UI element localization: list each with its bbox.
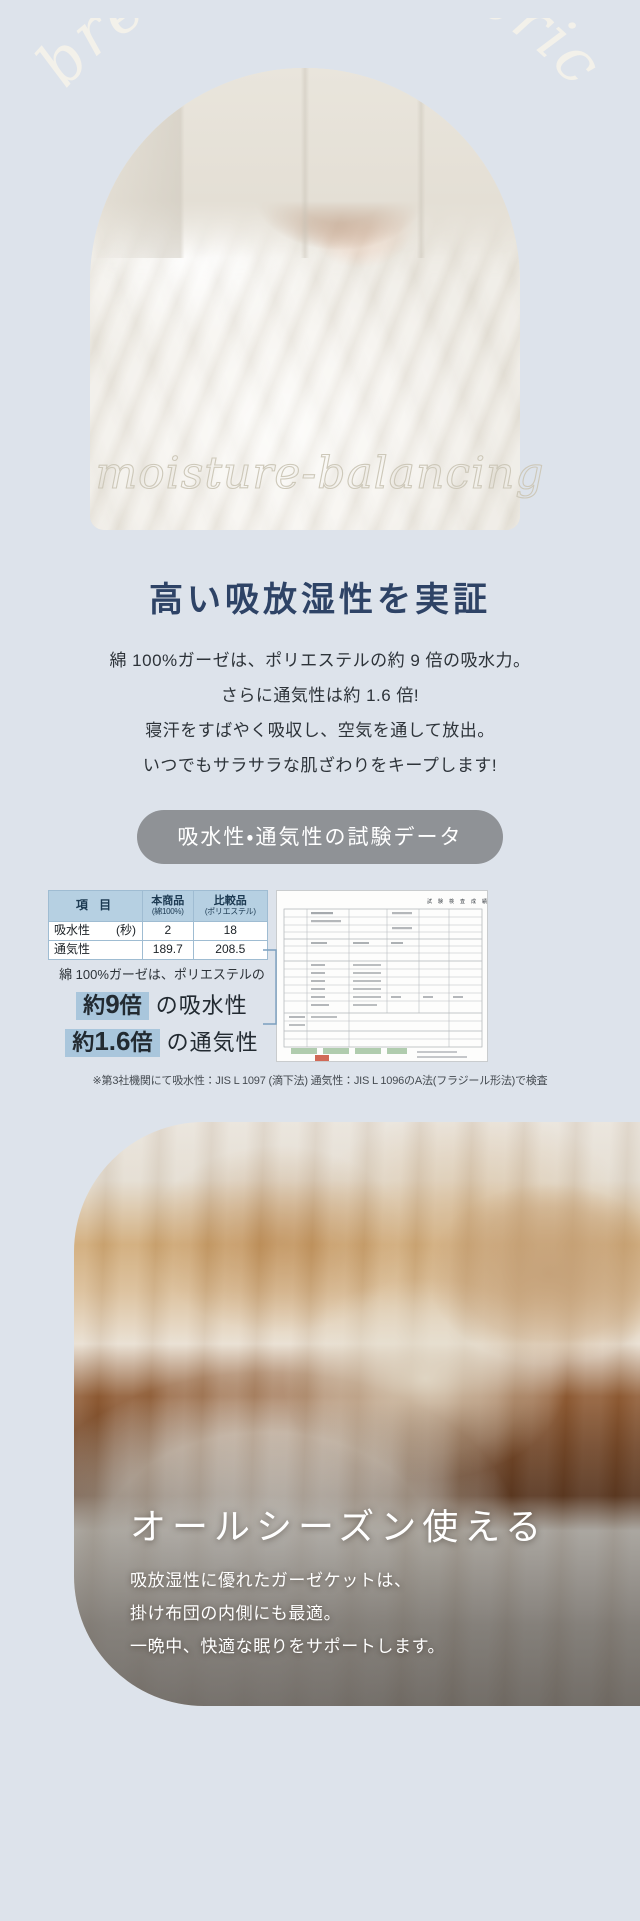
claim-breathability-suffix: 倍 <box>131 1030 153 1055</box>
th-product-main: 本商品 <box>151 895 184 907</box>
lead-line-1: 綿 100%ガーゼは、ポリエステルの約 9 倍の吸水力。 <box>0 644 640 679</box>
row-unit-absorbency: (秒) <box>116 924 136 938</box>
table-row: 通気性 189.7 208.5 <box>49 941 268 960</box>
hero-arch-image <box>90 68 520 530</box>
claim-absorbency-value: 9 <box>105 989 119 1019</box>
lead-line-2: さらに通気性は約 1.6 倍! <box>0 679 640 714</box>
lead-section: 高い吸放湿性を実証 綿 100%ガーゼは、ポリエステルの約 9 倍の吸水力。 さ… <box>0 578 640 784</box>
sleeping-woman-photo <box>90 68 520 530</box>
table-head: 項 目 本商品 (綿100%) 比較品 (ポリエステル) <box>49 890 268 922</box>
table-header-row: 項 目 本商品 (綿100%) 比較品 (ポリエステル) <box>49 890 268 922</box>
test-data-block: 項 目 本商品 (綿100%) 比較品 (ポリエステル) 吸水性 (秒) <box>0 886 640 1118</box>
bedroom-line-1: 吸放湿性に優れたガーゼケットは、 <box>130 1564 610 1597</box>
th-product: 本商品 (綿100%) <box>143 890 194 922</box>
th-item: 項 目 <box>49 890 143 922</box>
row-label-absorbency-text: 吸水性 <box>54 923 90 937</box>
claim-breathability-prefix: 約 <box>72 1030 94 1055</box>
claim-absorbency-suffix: 倍 <box>120 993 142 1018</box>
bedroom-title: オールシーズン使える <box>130 1505 610 1550</box>
th-compare-main: 比較品 <box>214 895 247 907</box>
hero-section: breathable fabric moisture-balancing <box>0 0 640 560</box>
table-to-certificate-connector <box>262 944 282 1030</box>
test-results-table: 項 目 本商品 (綿100%) 比較品 (ポリエステル) 吸水性 (秒) <box>48 890 268 961</box>
claim-absorbency-tail: の吸水性 <box>156 993 248 1018</box>
lead-paragraph: 綿 100%ガーゼは、ポリエステルの約 9 倍の吸水力。 さらに通気性は約 1.… <box>0 644 640 783</box>
test-method-footnote: ※第3社機関にて吸水性：JIS L 1097 (滴下法) 通気性：JIS L 1… <box>0 1072 640 1088</box>
row-label-breathability-text: 通気性 <box>54 942 90 956</box>
cell-breathability-product: 189.7 <box>143 941 194 960</box>
claims-block: 綿 100%ガーゼは、ポリエステルの 約9倍 の吸水性 約1.6倍 の通気性 <box>40 964 284 1057</box>
claim-breathability-highlight: 約1.6倍 <box>65 1029 159 1057</box>
cell-absorbency-compare: 18 <box>193 922 267 941</box>
table-body: 吸水性 (秒) 2 18 通気性 189.7 208.5 <box>49 922 268 960</box>
claim-absorbency-prefix: 約 <box>83 993 105 1018</box>
bedroom-line-3: 一晩中、快適な眠りをサポートします。 <box>130 1630 610 1663</box>
certificate-image: 試 験 検 査 成 績 書 <box>276 890 488 1062</box>
claim-absorbency-highlight: 約9倍 <box>76 992 149 1020</box>
product-landing-page: breathable fabric moisture-balancing 高い吸… <box>0 0 640 1921</box>
cell-absorbency-product: 2 <box>143 922 194 941</box>
bedroom-copy: オールシーズン使える 吸放湿性に優れたガーゼケットは、 掛け布団の内側にも最適。… <box>130 1505 610 1663</box>
lead-line-3: 寝汗をすばやく吸収し、空気を通して放出。 <box>0 714 640 749</box>
cell-breathability-compare: 208.5 <box>193 941 267 960</box>
page-title: 高い吸放湿性を実証 <box>0 578 640 622</box>
th-compare: 比較品 (ポリエステル) <box>193 890 267 922</box>
certificate-document: 試 験 検 査 成 績 書 <box>277 891 488 1062</box>
lead-line-4: いつでもサラサラな肌ざわりをキープします! <box>0 749 640 784</box>
claim-absorbency: 約9倍 の吸水性 <box>40 988 284 1020</box>
row-label-breathability: 通気性 <box>49 941 143 960</box>
table-row: 吸水性 (秒) 2 18 <box>49 922 268 941</box>
claim-breathability-tail: の通気性 <box>167 1030 259 1055</box>
bedroom-line-2: 掛け布団の内側にも最適。 <box>130 1597 610 1630</box>
row-label-absorbency: 吸水性 (秒) <box>49 922 143 941</box>
bedroom-paragraph: 吸放湿性に優れたガーゼケットは、 掛け布団の内側にも最適。 一晩中、快適な眠りを… <box>130 1564 610 1663</box>
claim-breathability: 約1.6倍 の通気性 <box>40 1025 284 1057</box>
th-compare-sub: (ポリエステル) <box>196 907 265 916</box>
bedroom-section: オールシーズン使える 吸放湿性に優れたガーゼケットは、 掛け布団の内側にも最適。… <box>74 1122 640 1706</box>
section-heading-row: 吸水性・通気性の試験データ <box>0 810 640 864</box>
claim-breathability-value: 1.6 <box>94 1026 130 1056</box>
claims-lead: 綿 100%ガーゼは、ポリエステルの <box>40 964 284 983</box>
th-product-sub: (綿100%) <box>145 907 191 916</box>
certificate-title: 試 験 検 査 成 績 書 <box>427 898 488 905</box>
test-data-heading-pill: 吸水性・通気性の試験データ <box>137 810 502 864</box>
